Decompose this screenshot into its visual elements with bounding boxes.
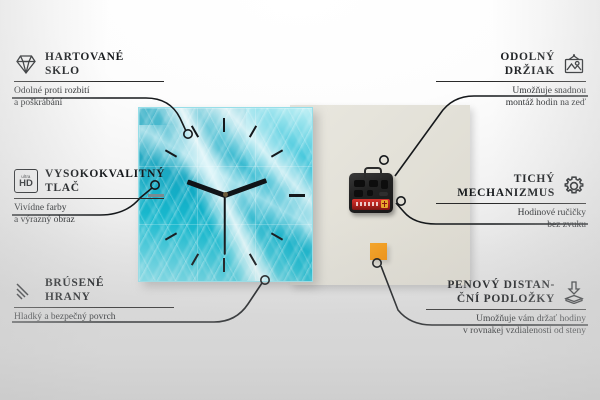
feature-high-quality-print: ultra HD VYSOKOKVALITNÝ TLAČ Vivídne far…	[14, 167, 164, 226]
feature-title: TICHÝ MECHANIZMUS	[457, 172, 555, 200]
diamond-icon	[14, 52, 38, 76]
feature-title: BRÚSENÉ HRANY	[45, 276, 104, 304]
clock-center-pin	[223, 192, 228, 197]
feature-silent-mechanism: TICHÝ MECHANIZMUS Hodinové ručičky bez z…	[436, 172, 586, 231]
clock-mechanism	[349, 173, 393, 213]
foam-pads-arrow-icon	[562, 280, 586, 304]
divider	[14, 307, 174, 308]
ultra-hd-icon: ultra HD	[14, 169, 38, 193]
second-hand	[224, 195, 226, 255]
mechanism-hook	[364, 167, 382, 178]
feature-description: Vivídne farby a výrazný obraz	[14, 203, 164, 226]
bevelled-edges-icon	[14, 278, 38, 302]
divider	[14, 198, 164, 199]
feature-description: Hladký a bezpečný povrch	[14, 312, 174, 324]
divider	[14, 81, 164, 82]
feature-description: Umožňuje vám držať hodiny v rovnakej vzd…	[426, 314, 586, 337]
feature-title: PENOVÝ DISTAN- ČNÍ PODLOŽKY	[447, 278, 555, 306]
feature-bevelled-edges: BRÚSENÉ HRANY Hladký a bezpečný povrch	[14, 276, 174, 324]
feature-description: Odolné proti rozbití a poškrábání	[14, 86, 164, 109]
divider	[426, 309, 586, 310]
feature-title: HARTOVANÉ SKLO	[45, 50, 124, 78]
feature-title: VYSOKOKVALITNÝ TLAČ	[45, 167, 165, 195]
feature-description: Hodinové ručičky bez zvuku	[436, 208, 586, 231]
feature-durable-hanger: ODOLNÝ DRŽIAK Umožňuje snadnou montáž ho…	[436, 50, 586, 109]
wall-hanger-picture-icon	[562, 52, 586, 76]
divider	[436, 203, 586, 204]
infographic-stage: HARTOVANÉ SKLO Odolné proti rozbití a po…	[0, 0, 600, 400]
ultra-hd-icon-main-label: HD	[19, 179, 33, 189]
hour-marker	[223, 258, 225, 272]
gear-icon	[562, 174, 586, 198]
divider	[436, 81, 586, 82]
feature-tempered-glass: HARTOVANÉ SKLO Odolné proti rozbití a po…	[14, 50, 164, 109]
feature-description: Umožňuje snadnou montáž hodin na zeď	[436, 86, 586, 109]
foam-spacer-pad	[370, 243, 387, 260]
feature-foam-spacers: PENOVÝ DISTAN- ČNÍ PODLOŽKY Umožňuje vám…	[426, 278, 586, 337]
feature-title: ODOLNÝ DRŽIAK	[500, 50, 555, 78]
hour-marker	[289, 194, 305, 197]
battery	[352, 199, 390, 210]
hour-marker	[223, 118, 225, 132]
